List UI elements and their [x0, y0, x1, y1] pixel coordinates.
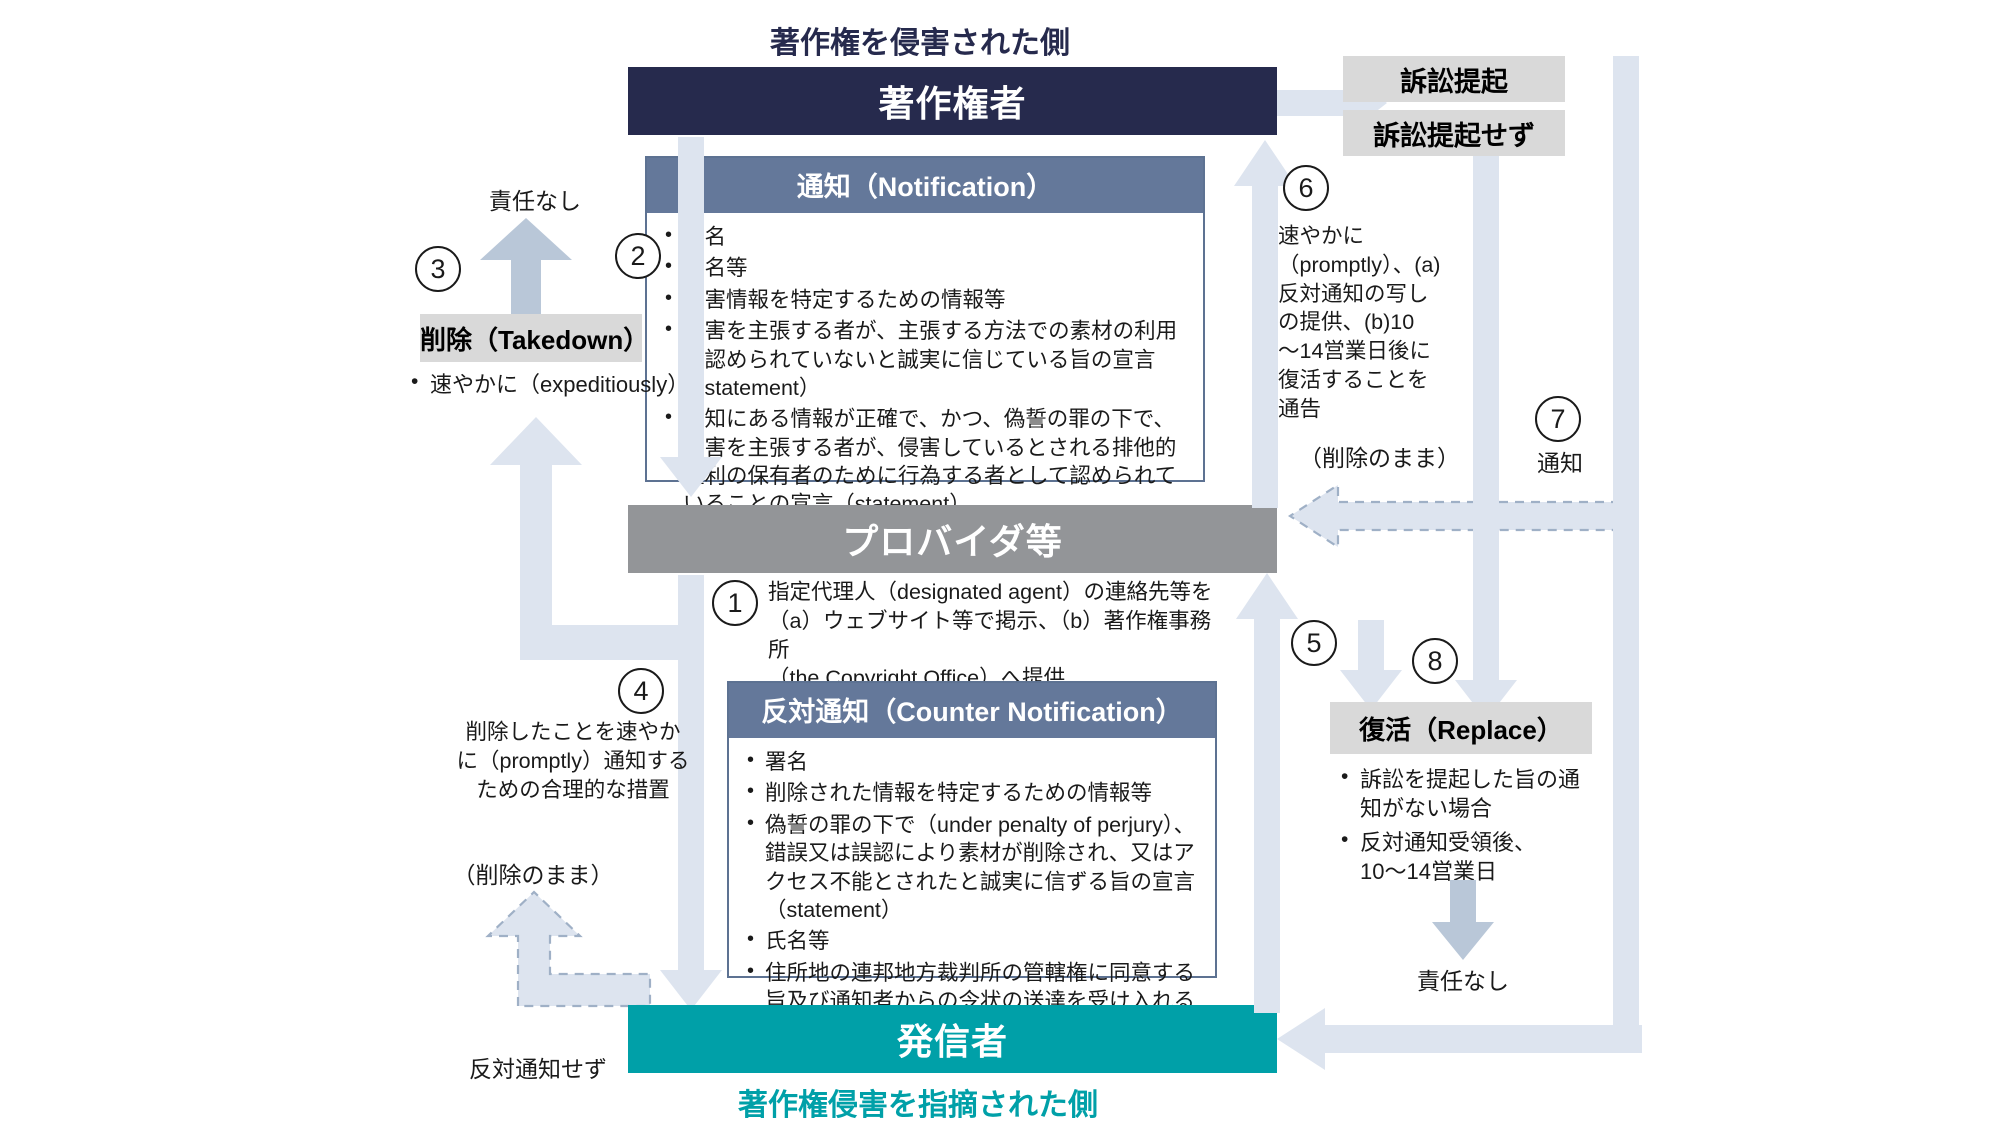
counter-notification-bullet-list: 署名 削除された情報を特定するための情報等 偽誓の罪の下で（under pena… [743, 748, 1203, 1044]
list-item: 反対通知受領後、10〜14営業日 [1336, 828, 1581, 887]
arrow-bottom-to-sender [1277, 1008, 1642, 1070]
notification-card-title: 通知（Notification） [647, 158, 1203, 213]
arrow-step5-sender-to-provider [1236, 573, 1298, 1013]
step-number-7: 7 [1535, 396, 1581, 442]
takedown-no-liability-label: 責任なし [455, 186, 615, 217]
step4-text: 削除したことを速やか に（promptly）通知する ための合理的な措置 [443, 718, 703, 804]
flowchart-canvas: 著作権を侵害された側 著作権者 訴訟提起 訴訟提起せず 通知（Notificat… [0, 0, 2000, 1128]
step-number-4: 4 [618, 668, 664, 714]
replace-bullet-list: 訴訟を提起した旨の通知がない場合 反対通知受領後、10〜14営業日 [1336, 765, 1581, 890]
notification-card: 通知（Notification） 署名 氏名等 侵害情報を特定するための情報等 … [645, 156, 1205, 482]
list-item: 訴訟を提起した旨の通知がない場合 [1336, 765, 1581, 824]
top-caption: 著作権を侵害された側 [770, 18, 1070, 62]
arrow-replace-to-no-liability [1432, 880, 1494, 960]
step7-label: 通知 [1510, 448, 1610, 479]
list-item: 速やかに（expeditiously） [406, 370, 696, 399]
step-number-8: 8 [1412, 638, 1458, 684]
list-item: 侵害情報を特定するための情報等 [661, 286, 1191, 314]
list-item: 氏名等 [743, 927, 1203, 955]
replace-chip: 復活（Replace） [1330, 702, 1592, 754]
replace-no-liability-label: 責任なし [1383, 966, 1543, 997]
litigation-filed-chip: 訴訟提起 [1343, 56, 1565, 102]
list-item: 削除された情報を特定するための情報等 [743, 779, 1203, 807]
list-item: 署名 [661, 223, 1191, 251]
litigation-not-filed-chip: 訴訟提起せず [1343, 110, 1565, 156]
counter-notification-card-title: 反対通知（Counter Notification） [729, 683, 1215, 738]
list-item: 侵害を主張する者が、主張する方法での素材の利用が認められていないと誠実に信じてい… [661, 317, 1191, 402]
copyright-owner-banner: 著作権者 [628, 67, 1277, 135]
step4-no-counter-label: 反対通知せず [428, 1054, 648, 1085]
step4-stay-removed-label: （削除のまま） [418, 860, 648, 891]
counter-notification-card: 反対通知（Counter Notification） 署名 削除された情報を特定… [727, 681, 1217, 978]
arrow-no-counter-notification-dashed [470, 888, 650, 1006]
step-number-6: 6 [1283, 165, 1329, 211]
list-item: 通知にある情報が正確で、かつ、偽誓の罪の下で、侵害を主張する者が、侵害していると… [661, 405, 1191, 519]
takedown-chip: 削除（Takedown） [420, 314, 642, 362]
notification-bullet-list: 署名 氏名等 侵害情報を特定するための情報等 侵害を主張する者が、主張する方法で… [661, 223, 1191, 519]
designated-agent-block: 1 指定代理人（designated agent）の連絡先等を （a）ウェブサイ… [712, 578, 1232, 693]
rail-litigation-not-filed [1473, 156, 1499, 668]
arrow-step3-up [480, 218, 572, 318]
list-item: 偽誓の罪の下で（under penalty of perjury）、錯誤又は誤認… [743, 811, 1203, 925]
arrow-stay-removed-dashed [1290, 485, 1620, 547]
list-item: 署名 [743, 748, 1203, 776]
step-number-2: 2 [615, 233, 661, 279]
step-number-5: 5 [1291, 620, 1337, 666]
step6-stay-removed-label: （削除のまま） [1272, 443, 1487, 474]
rail-litigation-filed-outer [1613, 56, 1639, 1026]
sender-banner: 発信者 [628, 1005, 1277, 1073]
provider-banner: プロバイダ等 [628, 505, 1277, 573]
step6-text: 速やかに （promptly）、(a) 反対通知の写し の提供、(b)10 〜1… [1278, 222, 1468, 424]
takedown-bullet-list: 速やかに（expeditiously） [406, 370, 696, 403]
list-item: 氏名等 [661, 254, 1191, 282]
bottom-caption: 著作権侵害を指摘された側 [738, 1080, 1098, 1124]
designated-agent-text: 指定代理人（designated agent）の連絡先等を （a）ウェブサイト等… [768, 578, 1232, 693]
arrow-step8-down-to-replace [1340, 620, 1402, 710]
step-number-3: 3 [415, 246, 461, 292]
